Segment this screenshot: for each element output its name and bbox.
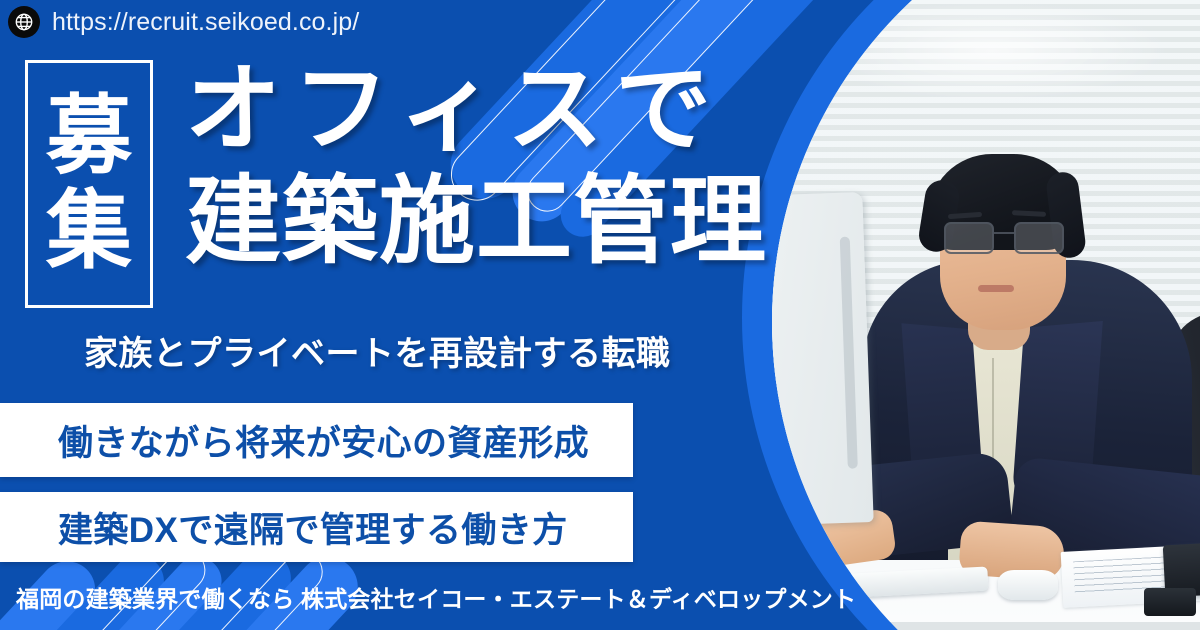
recruitment-banner: https://recruit.seikoed.co.jp/ 募 集 オフィスで… bbox=[0, 0, 1200, 630]
highlight-bar-1-label: 働きながら将来が安心の資産形成 bbox=[58, 415, 589, 466]
globe-icon bbox=[8, 6, 40, 38]
glasses-lens-left bbox=[944, 222, 994, 254]
url-text[interactable]: https://recruit.seikoed.co.jp/ bbox=[52, 8, 359, 37]
office-worker-photo bbox=[772, 0, 1200, 622]
url-row[interactable]: https://recruit.seikoed.co.jp/ bbox=[8, 6, 359, 38]
highlight-bar-2-label: 建築DXで遠隔で管理する働き方 bbox=[58, 502, 568, 553]
photo-person-mouth bbox=[978, 285, 1014, 292]
highlight-bar-2: 建築DXで遠隔で管理する働き方 bbox=[0, 492, 633, 562]
glasses-lens-right bbox=[1014, 222, 1064, 254]
boshu-badge: 募 集 bbox=[25, 60, 153, 308]
highlight-bar-1: 働きながら将来が安心の資産形成 bbox=[0, 403, 633, 477]
glasses-bridge bbox=[994, 232, 1014, 234]
photo-monitor-vents bbox=[772, 502, 787, 513]
footer-text: 福岡の建築業界で働くなら 株式会社セイコー・エステート＆ディベロップメント bbox=[16, 580, 856, 614]
photo-wall-glow bbox=[813, 0, 1171, 101]
photo-monitor-edge bbox=[840, 237, 858, 469]
headline-line-1: オフィスで bbox=[185, 58, 767, 162]
subtitle: 家族とプライベートを再設計する転職 bbox=[84, 326, 671, 375]
photo-disc-mask bbox=[772, 0, 1200, 630]
headline: オフィスで 建築施工管理 bbox=[185, 58, 767, 273]
badge-char-2: 集 bbox=[46, 186, 132, 277]
photo-person-glasses bbox=[944, 222, 1064, 256]
headline-line-2: 建築施工管理 bbox=[185, 170, 767, 274]
photo-desktop-monitor bbox=[772, 192, 874, 530]
badge-char-1: 募 bbox=[46, 91, 132, 182]
